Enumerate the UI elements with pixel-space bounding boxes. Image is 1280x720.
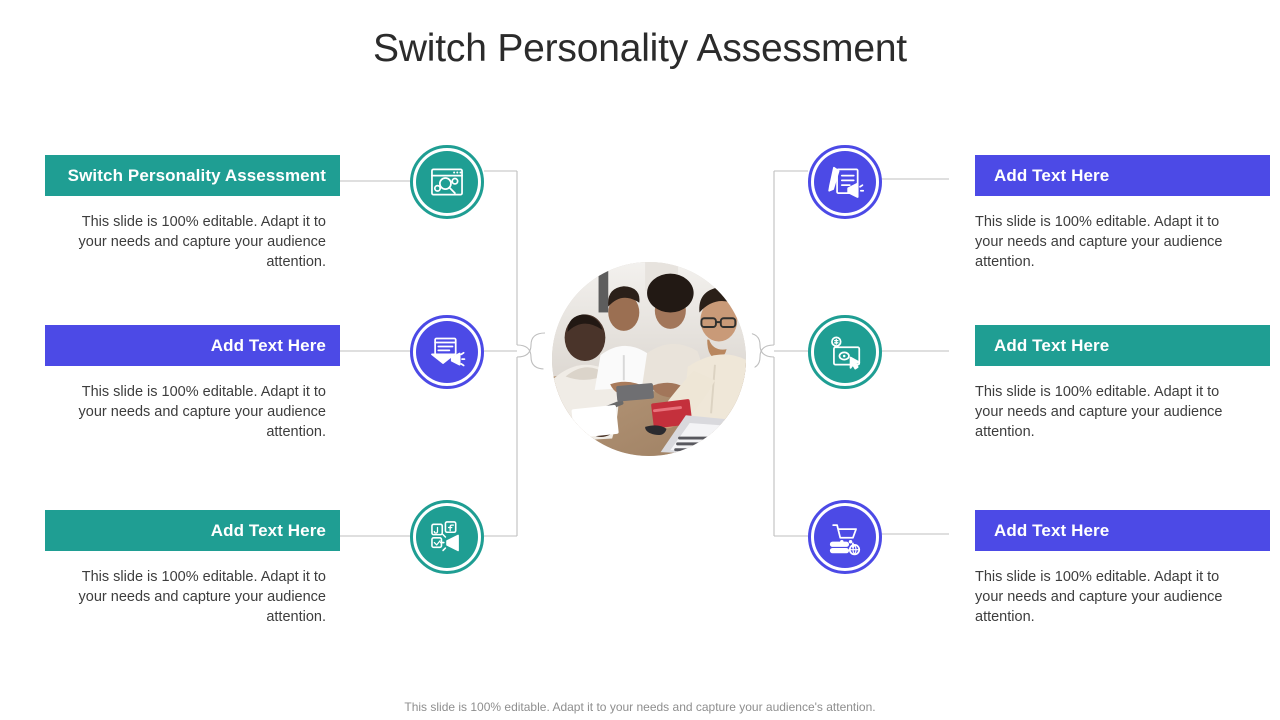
heading-label: Add Text Here [994,166,1109,185]
page-title: Switch Personality Assessment [0,26,1280,73]
heading-bar-right-1[interactable]: Add Text Here [975,155,1270,196]
content-block-right-1: Add Text Here This slide is 100% editabl… [975,155,1270,305]
heading-bar-right-3[interactable]: Add Text Here [975,510,1270,551]
content-writing-megaphone-icon [826,163,864,201]
content-block-left-3: Add Text Here This slide is 100% editabl… [45,510,340,660]
body-text-left-1: This slide is 100% editable. Adapt it to… [45,212,340,272]
footer-note: This slide is 100% editable. Adapt it to… [0,700,1280,714]
icon-node-left-1[interactable] [410,145,484,219]
heading-label: Add Text Here [994,521,1109,540]
seo-search-window-icon [428,163,466,201]
heading-label: Add Text Here [211,336,326,355]
content-block-right-3: Add Text Here This slide is 100% editabl… [975,510,1270,660]
heading-label: Switch Personality Assessment [68,166,326,185]
icon-node-right-2[interactable] [808,315,882,389]
heading-bar-right-2[interactable]: Add Text Here [975,325,1270,366]
content-block-left-2: Add Text Here This slide is 100% editabl… [45,325,340,475]
icon-node-left-3[interactable] [410,500,484,574]
body-text-right-1: This slide is 100% editable. Adapt it to… [975,212,1270,272]
email-marketing-megaphone-icon [428,333,466,371]
ecommerce-cart-globe-icon [826,518,864,556]
content-block-right-2: Add Text Here This slide is 100% editabl… [975,325,1270,475]
team-meeting-photo [552,262,746,456]
center-photo [543,253,755,465]
heading-label: Add Text Here [994,336,1109,355]
icon-node-left-2[interactable] [410,315,484,389]
icon-node-right-3[interactable] [808,500,882,574]
heading-bar-left-2[interactable]: Add Text Here [45,325,340,366]
heading-bar-left-3[interactable]: Add Text Here [45,510,340,551]
body-text-right-3: This slide is 100% editable. Adapt it to… [975,567,1270,627]
heading-label: Add Text Here [211,521,326,540]
heading-bar-left-1[interactable]: Switch Personality Assessment [45,155,340,196]
pay-per-click-icon [826,333,864,371]
connector-left-center-tab [517,333,545,369]
icon-node-right-1[interactable] [808,145,882,219]
social-media-megaphone-icon [428,518,466,556]
body-text-left-2: This slide is 100% editable. Adapt it to… [45,382,340,442]
content-block-left-1: Switch Personality Assessment This slide… [45,155,340,305]
body-text-right-2: This slide is 100% editable. Adapt it to… [975,382,1270,442]
body-text-left-3: This slide is 100% editable. Adapt it to… [45,567,340,627]
